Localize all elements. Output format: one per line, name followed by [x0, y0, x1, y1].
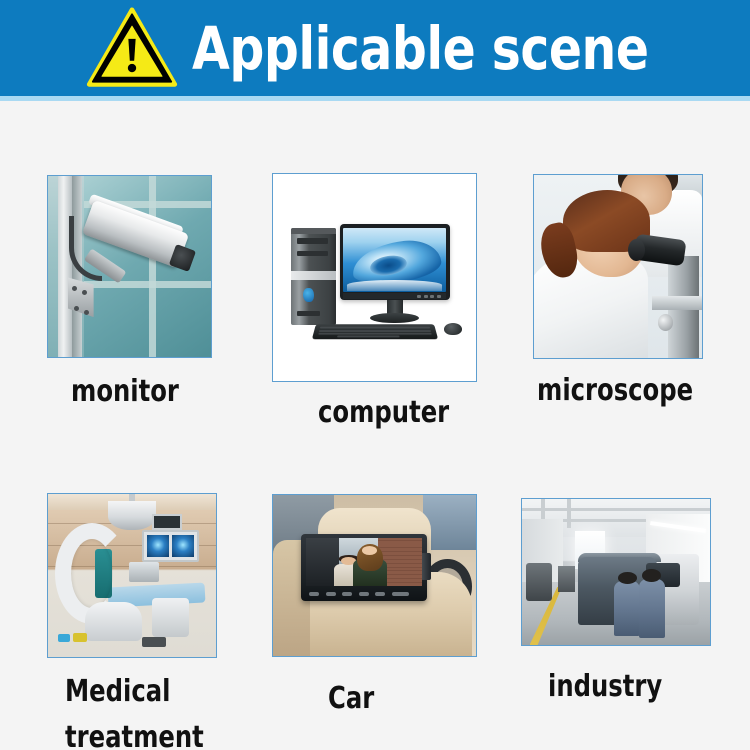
operating-room-photo — [48, 494, 216, 657]
desktop-computer-photo — [273, 174, 476, 381]
scene-card-medical-treatment: Medical treatment — [47, 493, 217, 750]
scene-card-industry: industry — [521, 498, 711, 743]
scene-card-computer: computer — [272, 173, 477, 408]
scene-card-car: Car — [272, 494, 477, 739]
scene-image-medical-treatment — [47, 493, 217, 658]
scene-image-monitor — [47, 175, 212, 358]
scene-image-microscope — [533, 174, 703, 359]
warning-triangle-icon — [86, 7, 178, 89]
microscope-lab-photo — [534, 175, 702, 358]
header-content: Applicable scene — [86, 7, 688, 89]
page-title: Applicable scene — [192, 19, 649, 78]
car-headrest-monitor-photo — [273, 495, 476, 656]
scene-label-medical-line2: treatment — [65, 721, 204, 750]
scene-image-industry — [521, 498, 711, 646]
cctv-camera-photo — [48, 176, 211, 357]
scene-label-monitor: monitor — [71, 375, 179, 409]
scene-label-medical-line1: Medical — [65, 675, 170, 709]
scene-card-monitor: monitor — [47, 175, 212, 405]
scene-image-computer — [272, 173, 477, 382]
factory-floor-photo — [522, 499, 710, 645]
scene-label-computer: computer — [318, 396, 449, 430]
scene-card-microscope: microscope — [533, 174, 703, 409]
scene-image-car — [272, 494, 477, 657]
scene-label-microscope: microscope — [537, 374, 693, 408]
scene-label-car: Car — [328, 682, 374, 716]
header-banner: Applicable scene — [0, 0, 750, 96]
scene-grid: monitor — [0, 101, 750, 750]
scene-label-industry: industry — [548, 670, 662, 704]
